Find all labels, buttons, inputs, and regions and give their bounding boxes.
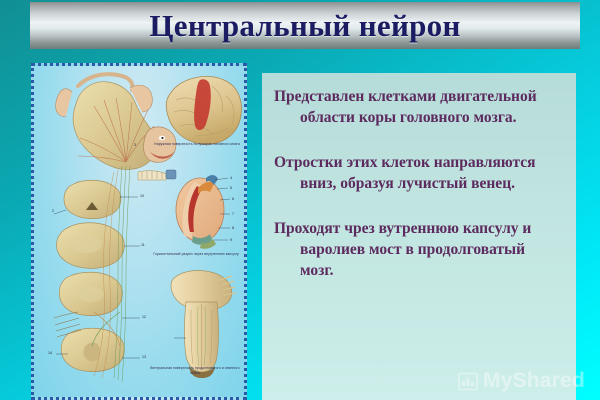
title-bar: Центральный нейрон [30,2,580,49]
page-title: Центральный нейрон [149,8,460,44]
body-paragraph-2: Отростки этих клеток направляются вниз, … [274,153,560,194]
figure-label-9: 9 [230,238,232,242]
anatomy-illustration [34,66,244,397]
figure-label-8: 8 [232,226,234,230]
figure-label-3: 3 [134,143,136,147]
figure-caption-medulla: Вентральная поверхность продолговатого и… [146,366,244,375]
anatomy-figure-panel: Наружная поверхность полушария головного… [31,63,247,400]
figure-label-12: 12 [142,315,146,319]
figure-label-4: 4 [230,176,232,180]
figure-label-10: 10 [140,194,144,198]
figure-caption-capsule: Горизонтальный разрез через внутреннюю к… [152,252,240,257]
figure-label-14: 14 [48,351,52,355]
body-paragraph-3: Проходят чрез вутреннюю капсулу и вароли… [274,219,560,281]
body-paragraph-1: Представлен клетками двигательной област… [274,87,560,128]
figure-label-13: 13 [142,355,146,359]
figure-caption-cortex: Наружная поверхность полушария головного… [154,142,240,147]
figure-label-2: 2 [52,209,54,213]
brainstem-sections [54,166,140,382]
figure-label-6: 6 [232,197,234,201]
figure-label-5: 5 [230,186,232,190]
figure-label-11: 11 [141,243,145,247]
internal-capsule-section [176,175,230,249]
body-text-panel: Представлен клетками двигательной област… [262,73,576,400]
motor-homunculus [56,74,176,180]
ventral-medulla-view [171,271,236,379]
figure-label-7: 7 [232,212,234,216]
brain-hemisphere [166,76,241,144]
